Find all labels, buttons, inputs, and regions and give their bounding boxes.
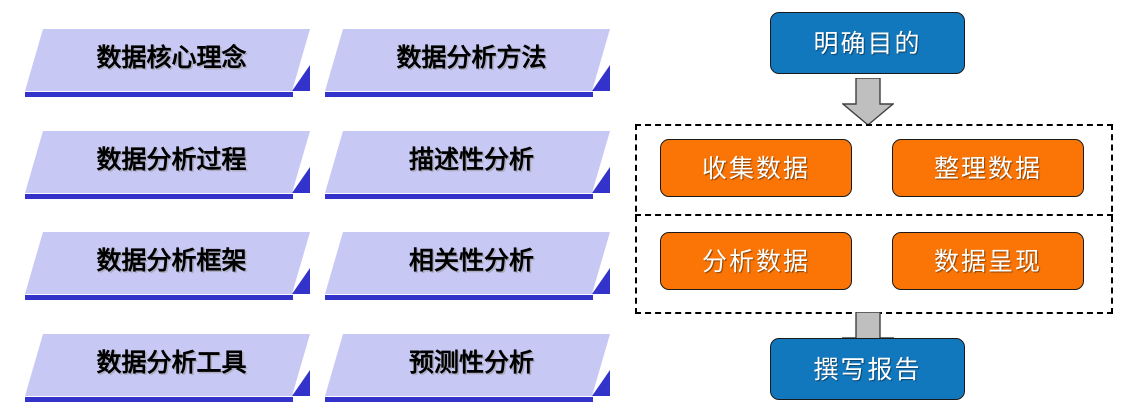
arrow-down-icon: [842, 78, 894, 126]
flowchart: 明确目的 收集数据 整理数据 分析数据 数据呈现 撰写报告: [620, 0, 1123, 415]
banner-item[interactable]: 数据分析方法: [325, 25, 610, 105]
banner-grid: 数据核心理念 数据分析过程 数据分析框架 数据分析工具 数: [0, 0, 630, 415]
flow-node-analyze[interactable]: 分析数据: [660, 232, 852, 290]
flow-node-tidy[interactable]: 整理数据: [892, 139, 1084, 197]
banner-label: 数据核心理念: [25, 25, 310, 91]
banner-label: 预测性分析: [325, 330, 610, 396]
flow-node-start[interactable]: 明确目的: [770, 12, 965, 74]
flow-node-present[interactable]: 数据呈现: [892, 232, 1084, 290]
banner-item[interactable]: 描述性分析: [325, 127, 610, 207]
flow-node-end[interactable]: 撰写报告: [770, 338, 965, 400]
flow-group-divider: [635, 214, 1113, 216]
banner-item[interactable]: 数据分析过程: [25, 127, 310, 207]
banner-label: 数据分析工具: [25, 330, 310, 396]
banner-label: 数据分析方法: [325, 25, 610, 91]
banner-label: 描述性分析: [325, 127, 610, 193]
banner-label: 数据分析框架: [25, 228, 310, 294]
banner-item[interactable]: 数据分析框架: [25, 228, 310, 308]
banner-item[interactable]: 数据核心理念: [25, 25, 310, 105]
banner-label: 相关性分析: [325, 228, 610, 294]
banner-item[interactable]: 相关性分析: [325, 228, 610, 308]
banner-item[interactable]: 预测性分析: [325, 330, 610, 410]
banner-label: 数据分析过程: [25, 127, 310, 193]
banner-item[interactable]: 数据分析工具: [25, 330, 310, 410]
flow-node-collect[interactable]: 收集数据: [660, 139, 852, 197]
